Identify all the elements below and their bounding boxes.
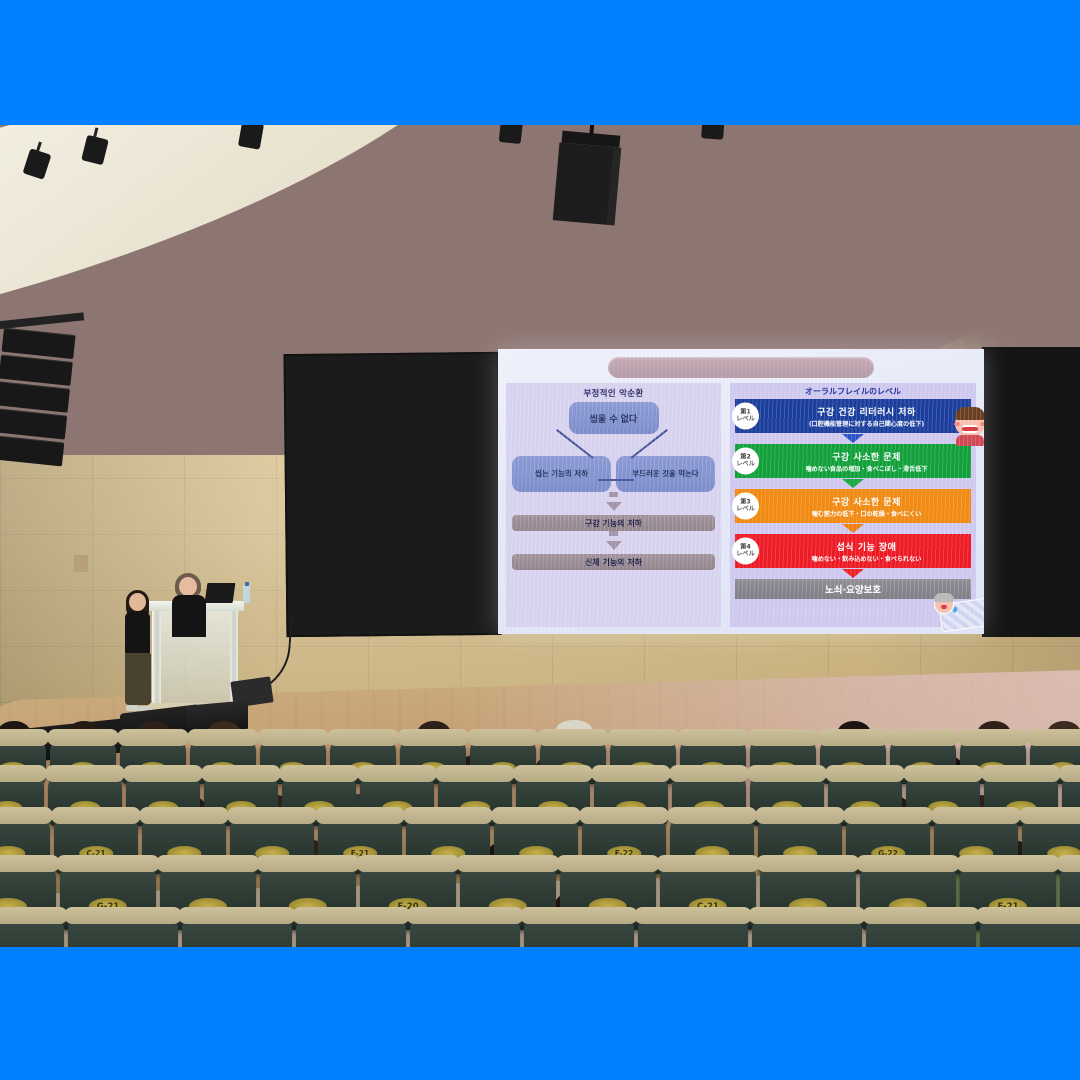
seat-headrest — [817, 729, 888, 746]
seat-headrest — [903, 765, 983, 782]
image-frame: 부정적인 악순환 씹을 수 없다 씹는 기능의 저하 부드러운 것을 먹는다 구… — [0, 0, 1080, 1080]
level-arrow-icon-4 — [735, 569, 971, 578]
seat-headrest — [634, 907, 753, 924]
seat-headrest — [956, 855, 1060, 872]
seat-headrest — [537, 729, 608, 746]
seat-headrest — [327, 729, 398, 746]
frailty-level-row-3: 第3 レベル 구강 사소한 문제 噛む筋力の低下・口の乾燥・食べにくい — [735, 489, 971, 523]
seat-headrest — [756, 855, 860, 872]
frailty-level-row-4: 第4 レベル 섭식 기능 장애 噛めない・飲み込めない・食べられない — [735, 534, 971, 568]
audience-seat — [524, 916, 634, 947]
audience-seat — [0, 916, 64, 947]
ceiling-spotlight-icon — [238, 125, 264, 150]
seat-headrest — [201, 765, 281, 782]
down-arrow-icon — [606, 502, 622, 511]
seat-headrest — [315, 807, 406, 824]
level-title-4: 섭식 기능 장애 — [762, 540, 971, 553]
seat-headrest — [513, 765, 593, 782]
level-title-3: 구강 사소한 문제 — [762, 495, 971, 508]
water-bottle — [243, 585, 250, 603]
seat-headrest — [656, 855, 760, 872]
frailty-level-row-1: 第1 レベル 구강 건강 리터러시 저하 (口腔機能管理に対する自己関心度の低下… — [735, 399, 971, 433]
audience-seat: G-21 — [752, 916, 862, 947]
head — [179, 577, 197, 596]
seat-headrest — [178, 907, 297, 924]
level-badge-label: レベル — [736, 506, 755, 512]
seat-headrest — [669, 765, 749, 782]
seat-headrest — [139, 807, 230, 824]
crying-child-face-icon — [953, 407, 984, 447]
oral-frailty-heading: オーラルフレイルのレベル — [735, 386, 971, 397]
seat-headrest — [356, 855, 460, 872]
seat-headrest — [257, 729, 328, 746]
level-badge-label: レベル — [736, 416, 755, 422]
torso — [125, 611, 150, 655]
seat-headrest — [357, 765, 437, 782]
presentation-slide: 부정적인 악순환 씹을 수 없다 씹는 기능의 저하 부드러운 것을 먹는다 구… — [498, 349, 984, 634]
cycle-outcome-bar-2: 신체 기능의 저하 — [512, 554, 715, 570]
seat-headrest — [825, 765, 905, 782]
dark-wall-panel-left — [284, 352, 502, 637]
level-subtitle-2: 噛めない食品の増加・食べこぼし・滑舌低下 — [762, 464, 971, 473]
seat-headrest — [862, 907, 981, 924]
audience-seating: C-21F-21F-22G-22G-21E-20C-21F-21F-22G-22… — [0, 730, 1080, 947]
seat-headrest — [456, 855, 560, 872]
cycle-node-right: 부드러운 것을 먹는다 — [616, 456, 715, 492]
level-subtitle-3: 噛む筋力の低下・口の乾燥・食べにくい — [762, 509, 971, 518]
seat-headrest — [667, 807, 758, 824]
seat-headrest — [981, 765, 1061, 782]
slide-title-bar — [608, 357, 874, 378]
down-arrow-icon — [609, 492, 618, 497]
seat-headrest — [256, 855, 360, 872]
level-arrow-icon-1 — [735, 434, 971, 443]
seat-headrest — [0, 855, 60, 872]
head — [129, 593, 146, 611]
cycle-outcome-bar-1: 구강 기능의 저하 — [512, 515, 715, 531]
audience-seat — [296, 916, 406, 947]
seat-headrest — [117, 729, 188, 746]
level-badge-4: 第4 レベル — [732, 538, 759, 565]
laptop-on-podium — [205, 583, 236, 603]
cycle-connector-mid — [598, 479, 634, 481]
seat-headrest — [931, 807, 1022, 824]
seat-headrest — [279, 765, 359, 782]
projection-screen: 부정적인 악순환 씹을 수 없다 씹는 기능의 저하 부드러운 것을 먹는다 구… — [498, 349, 984, 634]
seat-headrest — [677, 729, 748, 746]
seat-headrest — [156, 855, 260, 872]
seat-headrest — [397, 729, 468, 746]
bedridden-elderly-person-icon — [934, 591, 984, 631]
seat-headrest — [607, 729, 678, 746]
level-badge-label: レベル — [736, 551, 755, 557]
frailty-level-row-2: 第2 レベル 구강 사소한 문제 噛めない食品の増加・食べこぼし・滑舌低下 — [735, 444, 971, 478]
audience-seat: F-22 — [68, 916, 178, 947]
audience-seat — [866, 916, 976, 947]
seat-headrest — [56, 855, 160, 872]
seat-headrest — [45, 765, 125, 782]
skirt — [125, 653, 151, 705]
auditorium-photograph: 부정적인 악순환 씹을 수 없다 씹는 기능의 저하 부드러운 것을 먹는다 구… — [0, 125, 1080, 947]
vicious-cycle-heading: 부정적인 악순환 — [512, 387, 715, 399]
seat-headrest — [976, 907, 1080, 924]
down-arrow-icon — [606, 541, 622, 550]
seat-headrest — [1019, 807, 1080, 824]
seat-headrest — [491, 807, 582, 824]
seat-headrest — [556, 855, 660, 872]
level-title-2: 구강 사소한 문제 — [762, 450, 971, 463]
seat-headrest — [520, 907, 639, 924]
presenter-standing — [120, 593, 154, 725]
seat-headrest — [748, 907, 867, 924]
seat-headrest — [0, 765, 47, 782]
seat-headrest — [843, 807, 934, 824]
level-arrow-icon-3 — [735, 524, 971, 533]
seat-headrest — [0, 807, 53, 824]
level-arrow-icon-2 — [735, 479, 971, 488]
cycle-node-top: 씹을 수 없다 — [569, 402, 659, 434]
seat-headrest — [957, 729, 1028, 746]
presenter-at-podium — [170, 577, 208, 637]
seat-headrest — [0, 729, 49, 746]
level-title-1: 구강 건강 리터러시 저하 — [762, 405, 971, 418]
seat-headrest — [1056, 855, 1080, 872]
seat-headrest — [292, 907, 411, 924]
seat-headrest — [887, 729, 958, 746]
cycle-node-left: 씹는 기능의 저하 — [512, 456, 611, 492]
seat-headrest — [435, 765, 515, 782]
level-subtitle-4: 噛めない・飲み込めない・食べられない — [762, 554, 971, 563]
seat-headrest — [747, 765, 827, 782]
audience-seat — [638, 916, 748, 947]
seat-headrest — [187, 729, 258, 746]
oral-frailty-levels-panel: オーラルフレイルのレベル 第1 レベル 구강 건강 리터러시 저하 (口腔機能管… — [730, 383, 976, 627]
seat-headrest — [1059, 765, 1080, 782]
seat-headrest — [856, 855, 960, 872]
seat-headrest — [579, 807, 670, 824]
level-badge-1: 第1 レベル — [732, 403, 759, 430]
flown-speaker-cluster — [553, 142, 622, 225]
seat-headrest — [403, 807, 494, 824]
seat-headrest — [591, 765, 671, 782]
dark-wall-panel-right — [982, 347, 1080, 637]
audience-seat — [980, 916, 1080, 947]
seat-headrest — [747, 729, 818, 746]
seat-headrest — [47, 729, 118, 746]
ceiling-spotlight-icon — [499, 125, 524, 144]
seat-headrest — [227, 807, 318, 824]
seat-headrest — [64, 907, 183, 924]
level-subtitle-1: (口腔機能管理に対する自己関心度の低下) — [762, 419, 971, 428]
seat-headrest — [0, 907, 68, 924]
level-badge-2: 第2 レベル — [732, 448, 759, 475]
audience-seat — [182, 916, 292, 947]
seat-headrest — [1027, 729, 1080, 746]
seat-headrest — [467, 729, 538, 746]
ceiling-spotlight-icon — [701, 125, 725, 140]
level-badge-label: レベル — [736, 461, 755, 467]
seat-headrest — [51, 807, 142, 824]
vicious-cycle-panel: 부정적인 악순환 씹을 수 없다 씹는 기능의 저하 부드러운 것을 먹는다 구… — [506, 383, 721, 627]
torso — [172, 595, 206, 637]
level-badge-3: 第3 レベル — [732, 493, 759, 520]
podium-column-left — [153, 611, 161, 705]
audience-seat: G-22 — [410, 916, 520, 947]
shoe — [126, 705, 139, 711]
seat-headrest — [123, 765, 203, 782]
seat-headrest — [755, 807, 846, 824]
wall-access-panel — [74, 555, 88, 572]
seat-headrest — [406, 907, 525, 924]
down-arrow-icon — [609, 531, 618, 536]
